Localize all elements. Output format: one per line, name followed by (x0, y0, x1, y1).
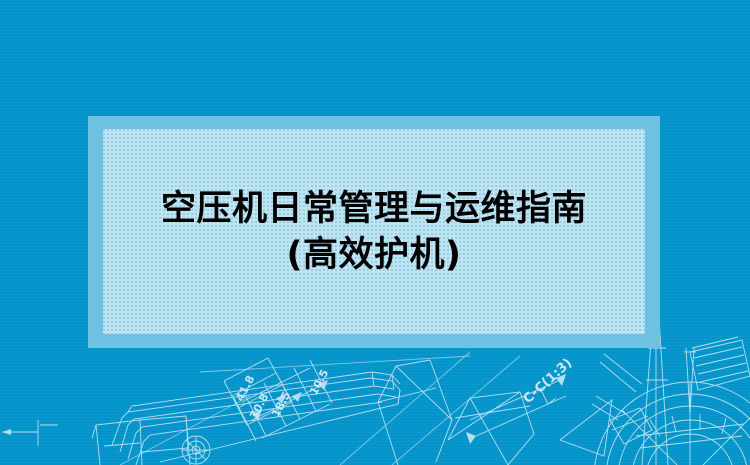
blueprint-tilted-frames (378, 360, 534, 465)
title-slide: 41.8 30.8 18.5 10.5 C-C(1:3) 空压机日常管理与运维指… (0, 0, 750, 465)
page-title-line-2: (高效护机) (287, 233, 462, 277)
blueprint-mounting-bracket (92, 416, 190, 465)
blueprint-left-leader (2, 420, 58, 446)
title-card-frame: 空压机日常管理与运维指南 (高效护机) (88, 116, 660, 348)
blueprint-circular-flange (592, 348, 750, 465)
page-title-line-1: 空压机日常管理与运维指南 (161, 187, 587, 231)
title-card-panel: 空压机日常管理与运维指南 (高效护机) (103, 129, 645, 334)
section-label-c-c: C-C(1:3) (521, 356, 576, 407)
dimension-label-10-5: 10.5 (307, 367, 331, 397)
blueprint-hub-left (182, 436, 210, 464)
